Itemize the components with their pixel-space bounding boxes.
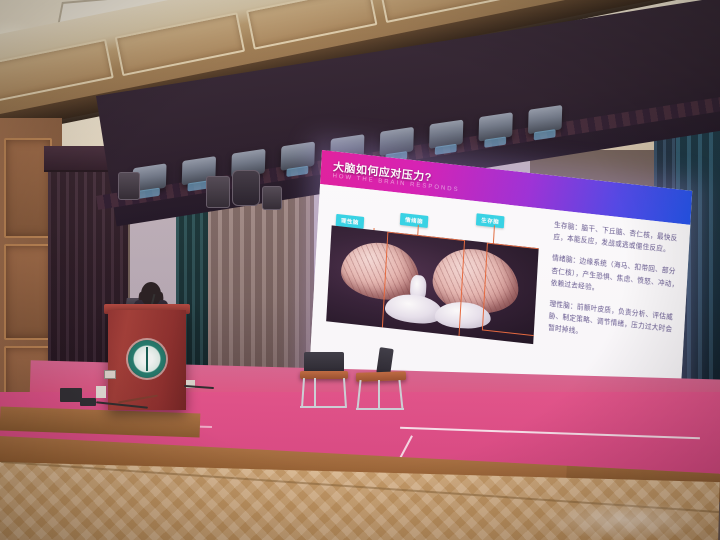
- brain-specimen-image: [326, 225, 539, 344]
- wall-socket: [104, 370, 116, 379]
- podium-emblem-icon: [128, 340, 166, 378]
- slide-paragraph: 生存脑：脑干、下丘脑、杏仁核，最快反应，本能反应，发战或逃或僵住反应。: [553, 220, 684, 259]
- chair-stretcher: [300, 406, 346, 408]
- chair-leg: [356, 380, 361, 410]
- floor-equipment-box: [80, 398, 96, 406]
- chair-back: [304, 352, 344, 372]
- slide-paragraph: 情绪脑：边缘系统（海马、扣带回、部分杏仁核），产生恐惧、焦虑、愤怒、冲动，依赖过…: [550, 253, 681, 304]
- chair-seat: [300, 371, 348, 379]
- wall-panel: [4, 244, 52, 340]
- annotation-box: [482, 243, 539, 338]
- chair-stretcher: [356, 408, 404, 410]
- brain-label-survival: 生存脑: [476, 213, 505, 228]
- floor-monitor-stand: [96, 386, 106, 398]
- floor-reflection: [540, 500, 710, 540]
- stage-light: [429, 120, 463, 149]
- stage-light: [380, 127, 414, 156]
- hanging-speaker: [232, 170, 260, 206]
- stage-light: [281, 141, 315, 170]
- floor-equipment-box: [60, 388, 82, 402]
- slide-body-text: 生存脑：脑干、下丘脑、杏仁核，最快反应，本能反应，发战或逃或僵住反应。 情绪脑：…: [547, 220, 684, 359]
- auditorium-stage-photo: 大脑如何应对压力? HOW THE BRAIN RESPONDS 理性脑 情绪脑…: [0, 0, 720, 540]
- chair-leg: [301, 378, 305, 408]
- stage-chair: [356, 348, 412, 410]
- chair-leg: [378, 380, 380, 408]
- slide-paragraph: 理性脑：前额叶皮质，负责分析、评估威胁、制定策略、调节情绪，压力过大时会暂时掉线…: [548, 299, 679, 350]
- chair-leg: [314, 378, 316, 406]
- stage-light: [528, 105, 562, 134]
- chair-leg: [343, 378, 347, 408]
- annotation-box: [382, 232, 465, 338]
- stage-chair: [298, 352, 352, 410]
- hanging-speaker: [206, 176, 230, 208]
- hanging-speaker: [262, 186, 282, 210]
- hanging-speaker: [118, 172, 140, 200]
- brain-label-emotional: 情绪脑: [400, 213, 429, 228]
- stage-light: [478, 112, 512, 141]
- chair-leg: [398, 380, 403, 410]
